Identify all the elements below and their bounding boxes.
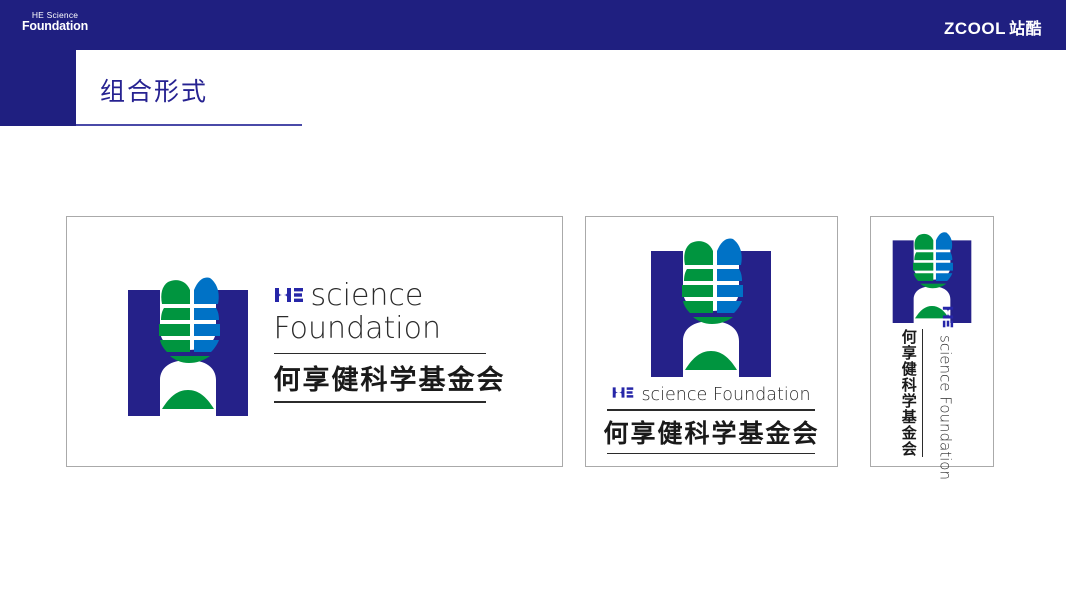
vertical-science-foundation: science Foundation — [937, 335, 955, 480]
wordmark-line-2: Foundation — [274, 312, 506, 346]
he-monogram-icon — [941, 306, 956, 328]
stacked-divider-top — [607, 409, 815, 411]
stacked-science-foundation: science Foundation — [641, 385, 810, 405]
top-brand-bar: HE Science Foundation ZCOOL站酷 — [0, 0, 1066, 50]
stacked-wordmark-chinese: 何享健科学基金会 — [603, 414, 819, 450]
stacked-divider-bottom — [607, 453, 815, 455]
vertical-english-text: science Foundation — [937, 306, 956, 480]
vertical-divider — [922, 329, 923, 457]
header-logo-line2: Foundation — [22, 20, 88, 33]
vertical-wordmark-english: science Foundation — [929, 329, 963, 457]
logo-card-vertical[interactable]: 何享健科学基金会 science Foundation — [870, 216, 994, 467]
he-science-foundation-logomark — [124, 268, 252, 416]
zcool-watermark: ZCOOL站酷 — [944, 15, 1042, 39]
header-logo: HE Science Foundation — [22, 11, 88, 33]
zcool-watermark-latin: ZCOOL — [944, 19, 1006, 38]
wordmark-chinese: 何享健科学基金会 — [274, 358, 506, 397]
wordmark-divider-bottom — [274, 401, 486, 403]
title-underline — [76, 124, 302, 126]
wordmark-line-1: science — [274, 280, 506, 312]
wordmark-divider-top — [274, 353, 486, 355]
title-accent-block — [0, 50, 76, 126]
zcool-watermark-cn: 站酷 — [1009, 21, 1042, 38]
vertical-wordmark-chinese: 何享健科学基金会 — [901, 329, 916, 457]
he-science-foundation-logomark — [647, 229, 775, 377]
vertical-wordmark: 何享健科学基金会 science Foundation — [901, 329, 963, 457]
vertical-lockup: 何享健科学基金会 science Foundation — [890, 226, 974, 457]
horizontal-wordmark: science Foundation 何享健科学基金会 — [274, 280, 506, 403]
he-monogram-icon — [612, 385, 634, 400]
page-title: 组合形式 — [100, 72, 208, 108]
horizontal-lockup: science Foundation 何享健科学基金会 — [124, 268, 506, 416]
wordmark-science: science — [311, 278, 424, 313]
stacked-lockup: science Foundation 何享健科学基金会 — [603, 229, 819, 454]
stacked-wordmark-english: science Foundation — [612, 385, 810, 405]
logo-card-horizontal[interactable]: science Foundation 何享健科学基金会 — [66, 216, 563, 467]
logo-card-stacked[interactable]: science Foundation 何享健科学基金会 — [585, 216, 838, 467]
he-science-foundation-logomark — [890, 226, 974, 323]
he-monogram-icon — [274, 285, 304, 305]
